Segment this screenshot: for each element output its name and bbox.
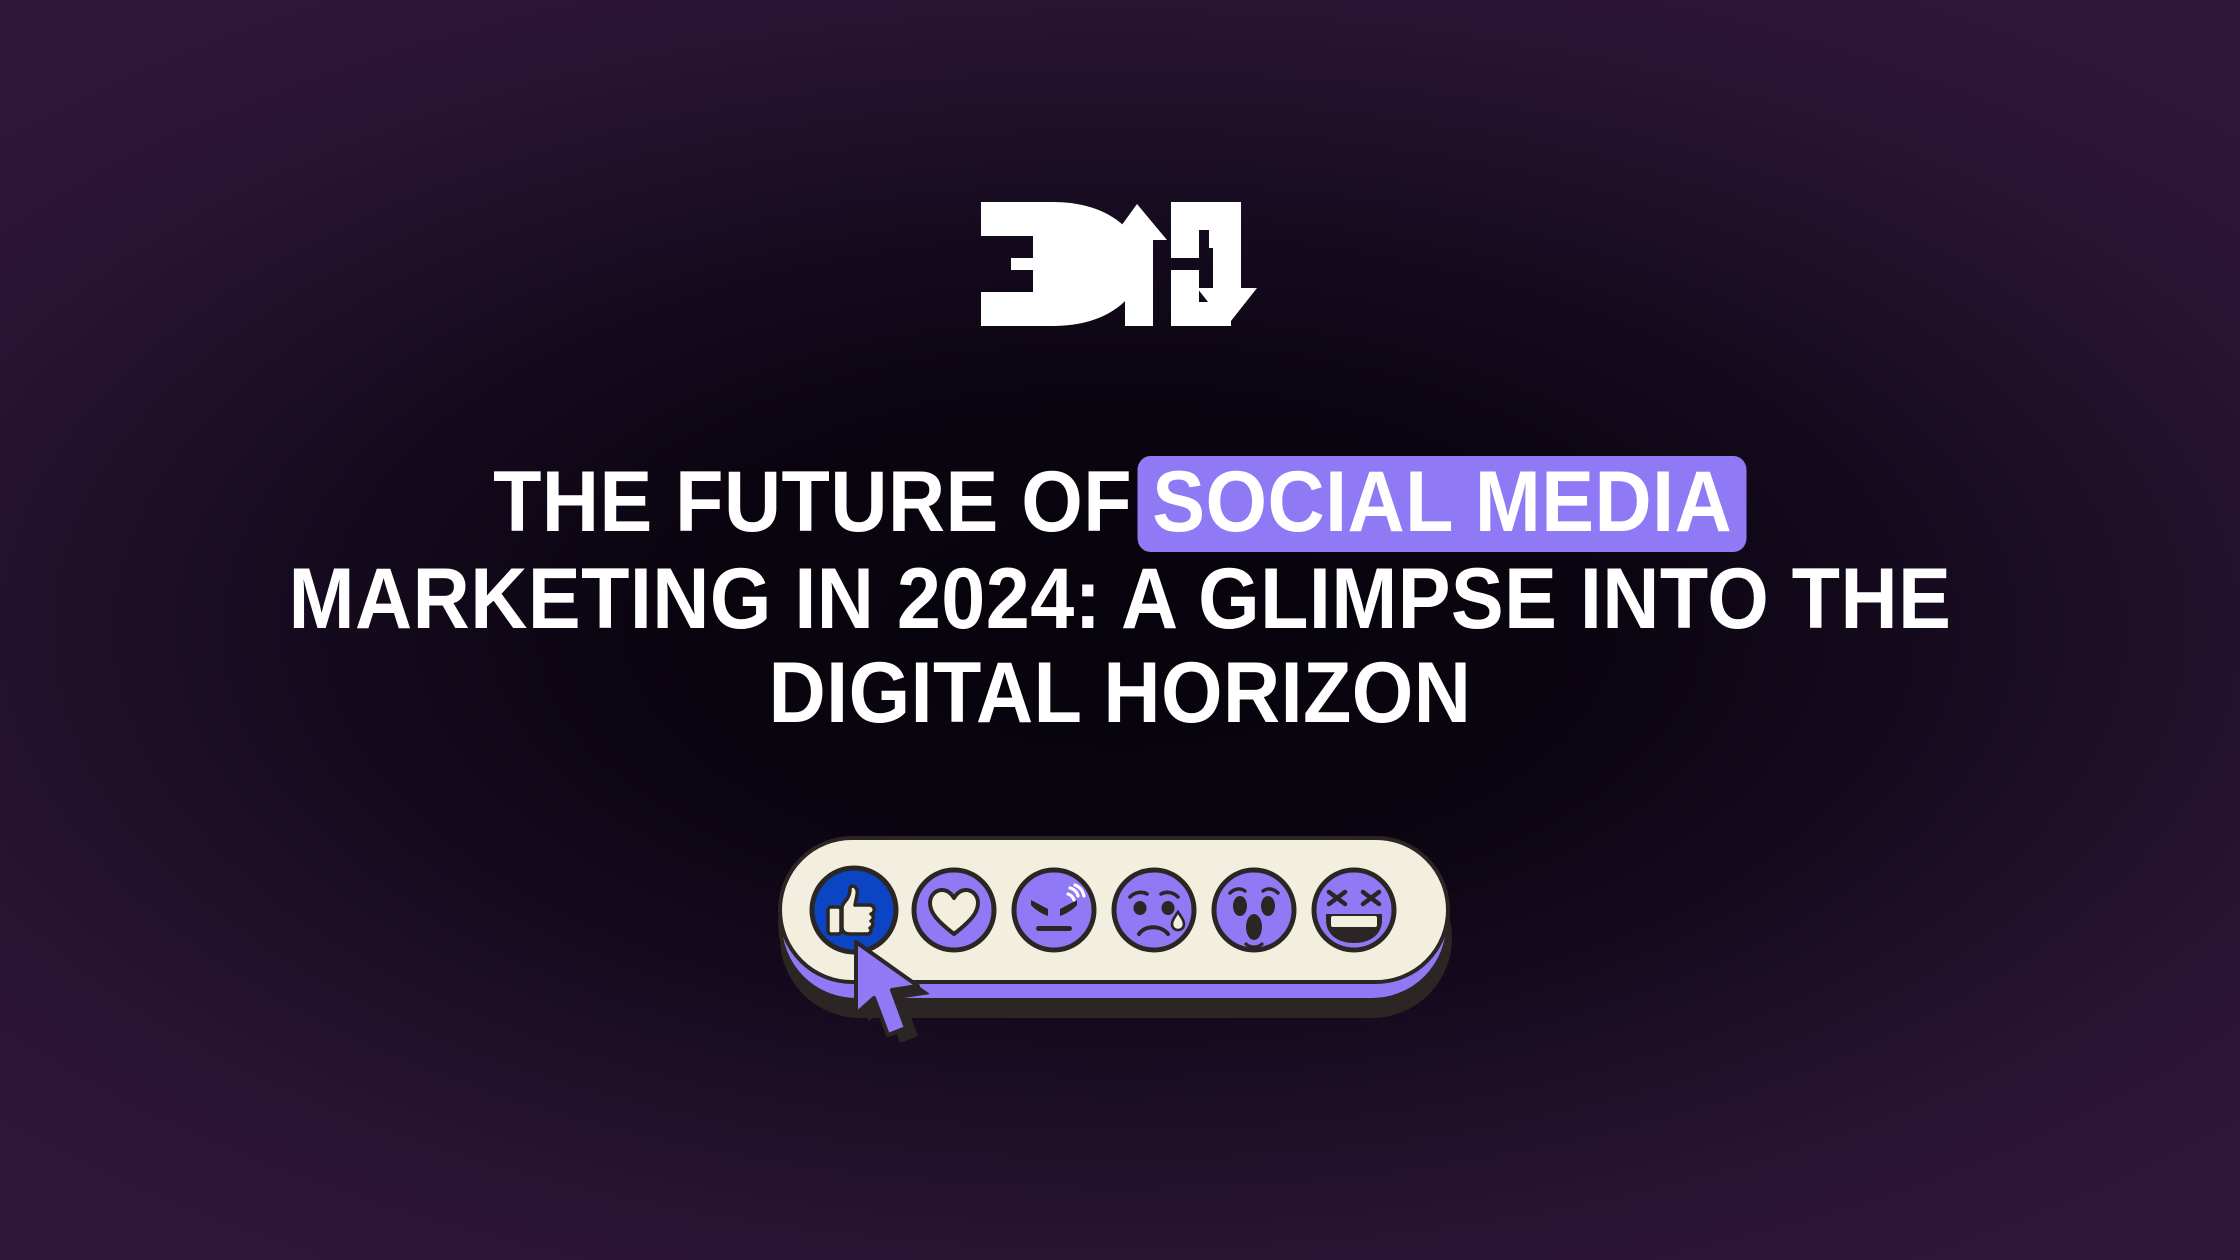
reaction-love-button[interactable]: [908, 864, 1000, 956]
reaction-wow-button[interactable]: [1208, 864, 1300, 956]
reaction-haha-button[interactable]: [1308, 864, 1400, 956]
title-line-3: DIGITAL HORIZON: [200, 646, 2040, 740]
reaction-like-button[interactable]: [808, 864, 900, 956]
brand-logo: [975, 196, 1265, 332]
poster-canvas: THE FUTURE OFSOCIAL MEDIA MARKETING IN 2…: [0, 0, 2240, 1260]
angry-mouth-icon: [1036, 926, 1072, 931]
sad-eye-right-icon: [1162, 901, 1175, 915]
reaction-bar[interactable]: [770, 832, 1470, 1052]
title-line-1: THE FUTURE OFSOCIAL MEDIA: [200, 455, 2040, 552]
title-prefix: THE FUTURE OF: [493, 454, 1132, 550]
page-title: THE FUTURE OFSOCIAL MEDIA MARKETING IN 2…: [120, 455, 2120, 740]
wow-eye-right-icon: [1261, 896, 1275, 916]
reaction-angry-button[interactable]: [1008, 864, 1100, 956]
reaction-bar-surface: [778, 836, 1450, 984]
sad-eye-left-icon: [1134, 901, 1147, 915]
wow-eye-left-icon: [1233, 896, 1247, 916]
wow-mouth-icon: [1246, 914, 1262, 940]
haha-teeth-icon: [1331, 916, 1377, 927]
title-highlight: SOCIAL MEDIA: [1138, 456, 1747, 552]
reaction-sad-button[interactable]: [1108, 864, 1200, 956]
title-line-2: MARKETING IN 2024: A GLIMPSE INTO THE: [200, 552, 2040, 646]
